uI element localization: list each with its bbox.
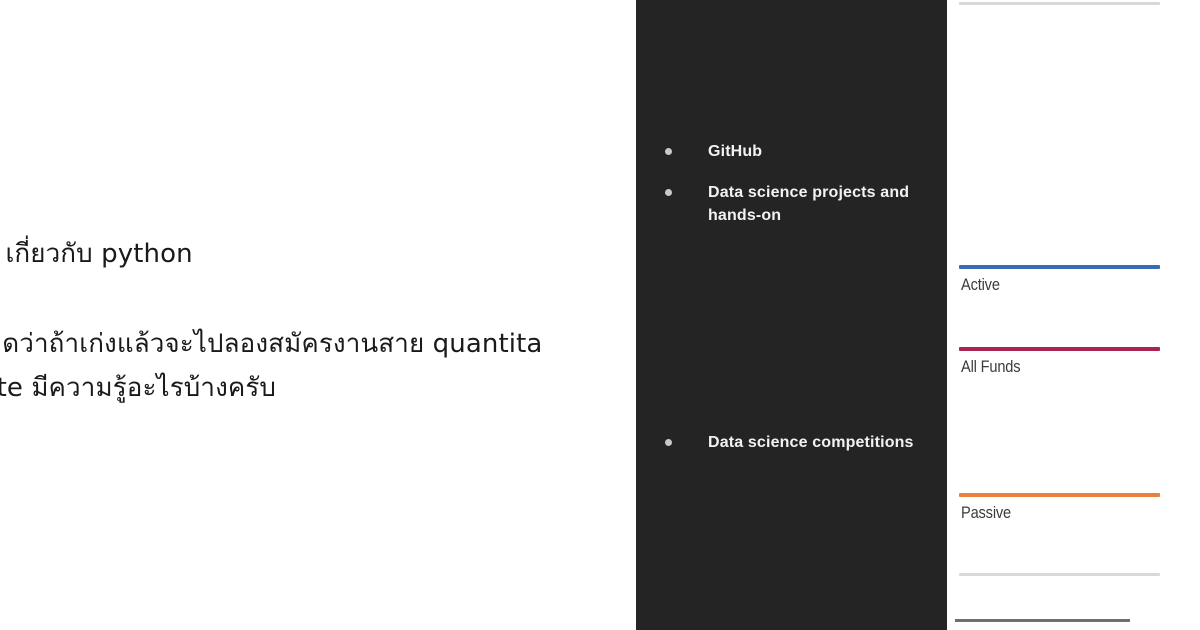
bullet-group-top: GitHub Data science projects and hands-o… [636,140,947,245]
bullet-dot-icon [665,148,672,155]
bullet-group-bottom: Data science competitions [636,431,947,472]
series-line-all-funds [959,347,1160,351]
series-line-active [959,265,1160,269]
list-item: Data science projects and hands-on [636,181,947,228]
document-text-pane: ning เกี่ยวกับ python ละคาดว่าถ้าเก่งแล้… [0,0,636,630]
bullet-label-projects: Data science projects and hands-on [708,181,935,228]
document-line-2: ละคาดว่าถ้าเก่งแล้วจะไปลองสมัครงานสาย qu… [0,328,542,361]
bullet-dot-icon [665,189,672,196]
series-label-all-funds: All Funds [961,357,1020,377]
screenshot-canvas: ning เกี่ยวกับ python ละคาดว่าถ้าเก่งแล้… [0,0,1200,630]
dark-slide-panel: GitHub Data science projects and hands-o… [636,0,947,630]
series-label-passive: Passive [961,503,1011,523]
chart-pane: Active All Funds Passive [947,0,1200,630]
list-item: Data science competitions [636,431,947,455]
chart-gridline-top [959,2,1160,5]
bullet-dot-icon [665,439,672,446]
document-line-3: didate มีความรู้อะไรบ้างครับ [0,372,276,405]
series-line-passive [959,493,1160,497]
bullet-label-github: GitHub [708,140,935,164]
bullet-label-competitions: Data science competitions [708,431,935,455]
series-label-active: Active [961,275,1000,295]
chart-axis-line [955,619,1130,622]
list-item: GitHub [636,140,947,164]
chart-gridline-bottom [959,573,1160,576]
document-line-1: ning เกี่ยวกับ python [0,238,193,271]
